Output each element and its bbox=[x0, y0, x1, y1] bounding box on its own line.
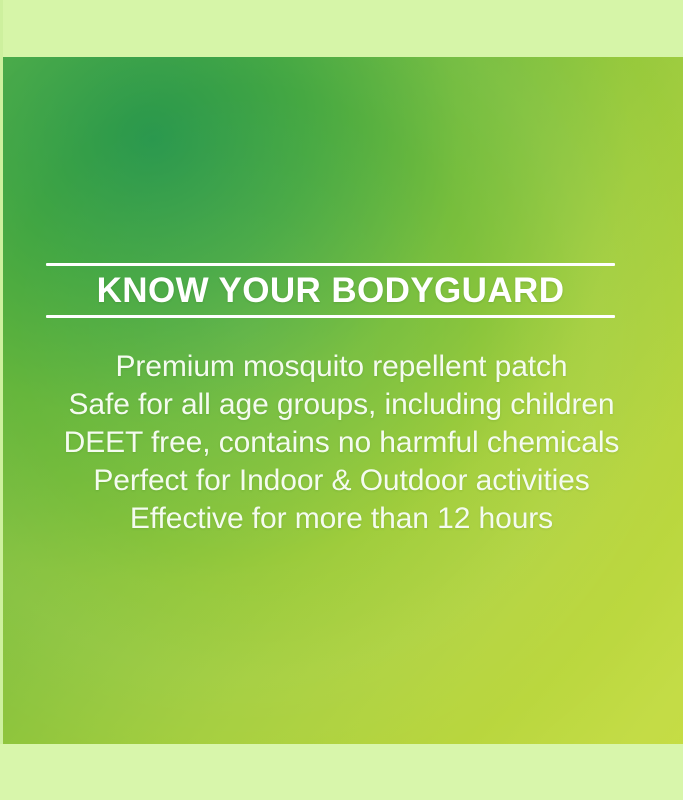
gradient-panel bbox=[3, 57, 683, 744]
top-frame-band bbox=[0, 0, 683, 57]
product-feature-poster: KNOW YOUR BODYGUARD Premium mosquito rep… bbox=[0, 0, 683, 800]
bottom-frame-band bbox=[0, 744, 683, 800]
